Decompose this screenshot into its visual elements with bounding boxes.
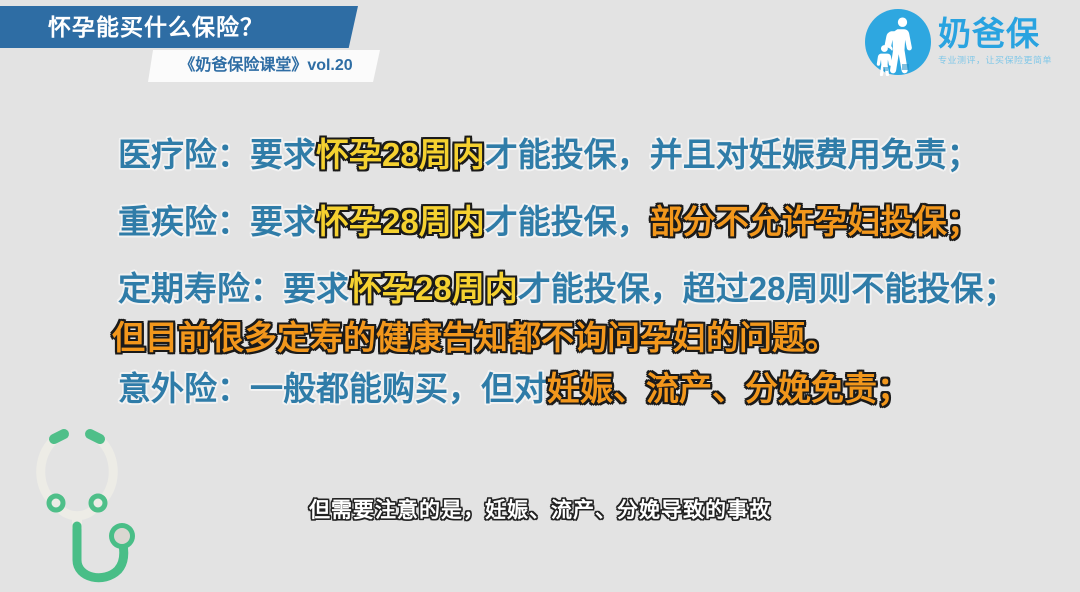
highlight-segment: 怀孕28周内 <box>316 136 485 173</box>
content-line-accident: 意外险：一般都能购买，但对妊娠、流产、分娩免责； <box>0 372 1080 405</box>
highlight-segment: 妊娠、流产、分娩免责； <box>547 370 910 407</box>
subtitle-banner: 《奶爸保险课堂》vol.20 <box>148 50 380 82</box>
logo-text-group: 奶爸保 专业测评，让买保险更简单 <box>938 17 1052 67</box>
caption-text: 但需要注意的是，妊娠、流产、分娩导致的事故 <box>309 494 771 524</box>
content-line-term-life-note: 但目前很多定寿的健康告知都不询问孕妇的问题。 <box>0 321 1080 354</box>
highlight-segment: 怀孕28周内 <box>349 270 518 307</box>
parent-child-circle-icon <box>864 8 932 76</box>
brand-logo: 奶爸保 专业测评，让买保险更简单 <box>864 6 1070 78</box>
highlight-segment: 怀孕28周内 <box>316 203 485 240</box>
text-segment: 定期寿险：要求 <box>118 270 349 307</box>
bottom-caption: 但需要注意的是，妊娠、流产、分娩导致的事故 <box>0 494 1080 524</box>
text-segment: 才能投保，超过28周则不能投保； <box>518 270 1017 307</box>
text-segment: 意外险：一般都能购买，但对 <box>118 370 547 407</box>
content-line-term-life: 定期寿险：要求怀孕28周内才能投保，超过28周则不能投保； <box>0 272 1080 305</box>
logo-name: 奶爸保 <box>938 17 1052 52</box>
logo-tagline: 专业测评，让买保险更简单 <box>938 54 1052 66</box>
content-lines: 医疗险：要求怀孕28周内才能投保，并且对妊娠费用免责； 重疾险：要求怀孕28周内… <box>0 130 1080 405</box>
text-segment: 医疗险：要求 <box>118 136 316 173</box>
text-segment: 才能投保，并且对妊娠费用免责； <box>485 136 980 173</box>
text-segment: 重疾险：要求 <box>118 203 316 240</box>
page-title: 怀孕能买什么保险？ <box>48 16 264 39</box>
header: 怀孕能买什么保险？ 《奶爸保险课堂》vol.20 奶爸保 专业测评，让买保险更简… <box>0 0 1080 100</box>
content-line-medical: 医疗险：要求怀孕28周内才能投保，并且对妊娠费用免责； <box>0 138 1080 171</box>
text-segment: 才能投保， <box>485 203 650 240</box>
highlight-segment: 部分不允许孕妇投保； <box>650 203 980 240</box>
content-line-critical-illness: 重疾险：要求怀孕28周内才能投保，部分不允许孕妇投保； <box>0 205 1080 238</box>
highlight-segment: 但目前很多定寿的健康告知都不询问孕妇的问题。 <box>112 319 838 356</box>
page-subtitle: 《奶爸保险课堂》vol.20 <box>175 58 352 74</box>
title-banner: 怀孕能买什么保险？ <box>0 6 358 48</box>
